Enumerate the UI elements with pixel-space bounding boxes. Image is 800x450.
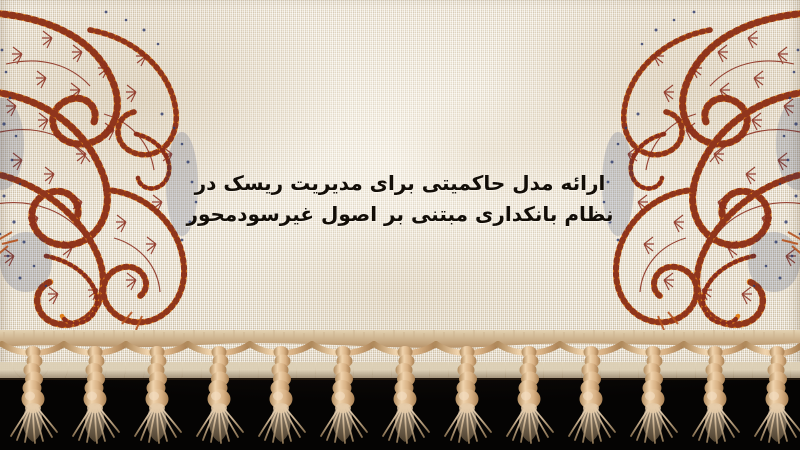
tassel-fringe (0, 330, 800, 450)
title-line-1: ارائه مدل حاکمیتی برای مدیریت ریسک در (0, 168, 800, 199)
slide-title: ارائه مدل حاکمیتی برای مدیریت ریسک در نظ… (0, 168, 800, 230)
title-line-2: نظام بانکداری مبتنی بر اصول غیرسودمحور (0, 199, 800, 230)
slide-canvas: ارائه مدل حاکمیتی برای مدیریت ریسک در نظ… (0, 0, 800, 450)
